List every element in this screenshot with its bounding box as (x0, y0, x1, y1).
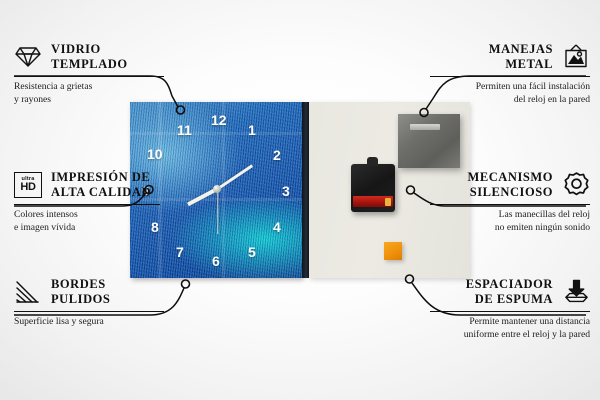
clock-numeral-11: 11 (177, 123, 192, 137)
feature-heading: MANEJAS METAL (400, 42, 590, 72)
clock-pattern-line (222, 102, 225, 278)
clock-center-pin (213, 185, 221, 193)
clock-side-edge (302, 102, 309, 278)
feature-vidrio-templado: VIDRIO TEMPLADO Resistencia a grietas y … (14, 42, 189, 106)
clock-numeral-6: 6 (212, 254, 220, 268)
feature-mecanismo-silencioso: MECANISMO SILENCIOSO Las manecillas del … (400, 170, 590, 234)
clock-numeral-12: 12 (211, 113, 227, 127)
feature-title: IMPRESIÓN DE ALTA CALIDAD (51, 170, 151, 200)
diamond-icon (14, 43, 42, 71)
feature-divider (430, 204, 590, 206)
picture-frame-hanging-icon (562, 43, 590, 71)
battery (353, 196, 393, 207)
feature-description: Permite mantener una distancia uniforme … (400, 316, 590, 341)
clock-numeral-7: 7 (176, 245, 184, 259)
clock-numeral-10: 10 (147, 147, 163, 161)
feature-divider (430, 76, 590, 78)
movement-shaft (367, 157, 378, 166)
polished-edge-icon (14, 278, 42, 306)
ultra-hd-icon: ultra HD (14, 171, 42, 199)
clock-numeral-1: 1 (248, 123, 256, 137)
ultra-hd-icon-label-big: HD (20, 182, 35, 193)
feature-title: ESPACIADOR DE ESPUMA (466, 277, 553, 307)
feature-description: Colores intensos e imagen vívida (14, 209, 189, 234)
feature-title: BORDES PULIDOS (51, 277, 110, 307)
feature-description: Superficie lisa y segura (14, 316, 189, 329)
metal-hanger-plate (398, 114, 460, 168)
quartz-movement (351, 164, 395, 212)
hanger-slot (410, 124, 440, 130)
feature-manejas-metal: MANEJAS METAL Permiten una fácil instala… (400, 42, 590, 106)
feature-description: Permiten una fácil instalación del reloj… (400, 81, 590, 106)
arrow-down-spacer-icon (562, 278, 590, 306)
battery-terminal (385, 198, 391, 206)
feature-heading: ultra HD IMPRESIÓN DE ALTA CALIDAD (14, 170, 189, 200)
feature-divider (14, 311, 164, 313)
feature-description: Resistencia a grietas y rayones (14, 81, 189, 106)
feature-divider (14, 204, 160, 206)
feature-divider (430, 311, 590, 313)
second-hand (217, 189, 218, 234)
feature-heading: MECANISMO SILENCIOSO (400, 170, 590, 200)
clock-numeral-5: 5 (248, 245, 256, 259)
feature-heading: ESPACIADOR DE ESPUMA (400, 277, 590, 307)
infographic-canvas: 12 1 2 3 4 5 6 7 8 9 10 11 (0, 0, 600, 400)
clock-numeral-3: 3 (282, 184, 290, 198)
feature-description: Las manecillas del reloj no emiten ningú… (400, 209, 590, 234)
clock-numeral-2: 2 (273, 148, 281, 162)
gear-icon (562, 171, 590, 199)
feature-title: MANEJAS METAL (489, 42, 553, 72)
feature-title: MECANISMO SILENCIOSO (467, 170, 553, 200)
feature-heading: VIDRIO TEMPLADO (14, 42, 189, 72)
feature-heading: BORDES PULIDOS (14, 277, 189, 307)
feature-divider (14, 76, 164, 78)
feature-espaciador-de-espuma: ESPACIADOR DE ESPUMA Permite mantener un… (400, 277, 590, 341)
feature-impresion-alta-calidad: ultra HD IMPRESIÓN DE ALTA CALIDAD Color… (14, 170, 189, 234)
clock-pattern-line (130, 132, 302, 135)
feature-title: VIDRIO TEMPLADO (51, 42, 128, 72)
foam-spacer (384, 242, 402, 260)
clock-numeral-4: 4 (273, 220, 281, 234)
feature-bordes-pulidos: BORDES PULIDOS Superficie lisa y segura (14, 277, 189, 329)
